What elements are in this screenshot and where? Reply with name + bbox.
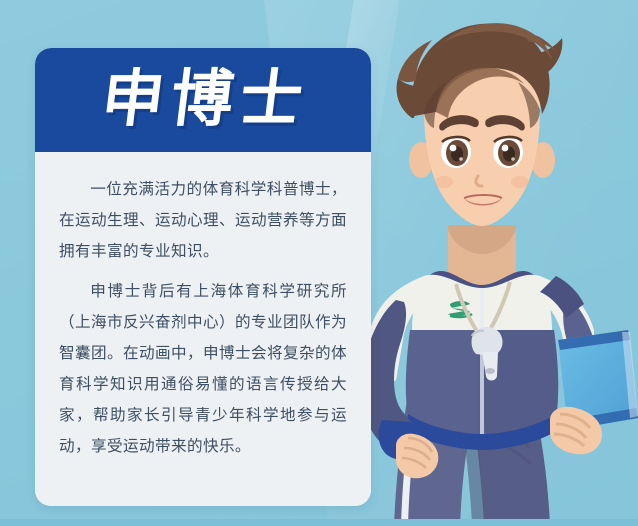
eye-right bbox=[493, 136, 523, 168]
promo-card-screenshot: 申博士 一位充满活力的体育科学科普博士，在运动生理、运动心理、运动营养等方面拥有… bbox=[0, 0, 638, 526]
cheek-right bbox=[511, 176, 529, 188]
cheek-left bbox=[435, 176, 453, 188]
page-title: 申博士 bbox=[93, 69, 314, 131]
description-paragraph-2: 申博士背后有上海体育科学研究所（上海市反兴奋剂中心）的专业团队作为智囊团。在动画… bbox=[59, 276, 347, 462]
bottom-strip bbox=[0, 519, 638, 526]
info-card: 申博士 一位充满活力的体育科学科普博士，在运动生理、运动心理、运动营养等方面拥有… bbox=[35, 48, 371, 506]
card-body: 一位充满活力的体育科学科普博士，在运动生理、运动心理、运动营养等方面拥有丰富的专… bbox=[35, 152, 371, 506]
eye-left bbox=[441, 136, 471, 168]
character-illustration bbox=[352, 0, 638, 526]
description-paragraph-1: 一位充满活力的体育科学科普博士，在运动生理、运动心理、运动营养等方面拥有丰富的专… bbox=[59, 174, 347, 267]
card-header: 申博士 bbox=[35, 48, 371, 152]
